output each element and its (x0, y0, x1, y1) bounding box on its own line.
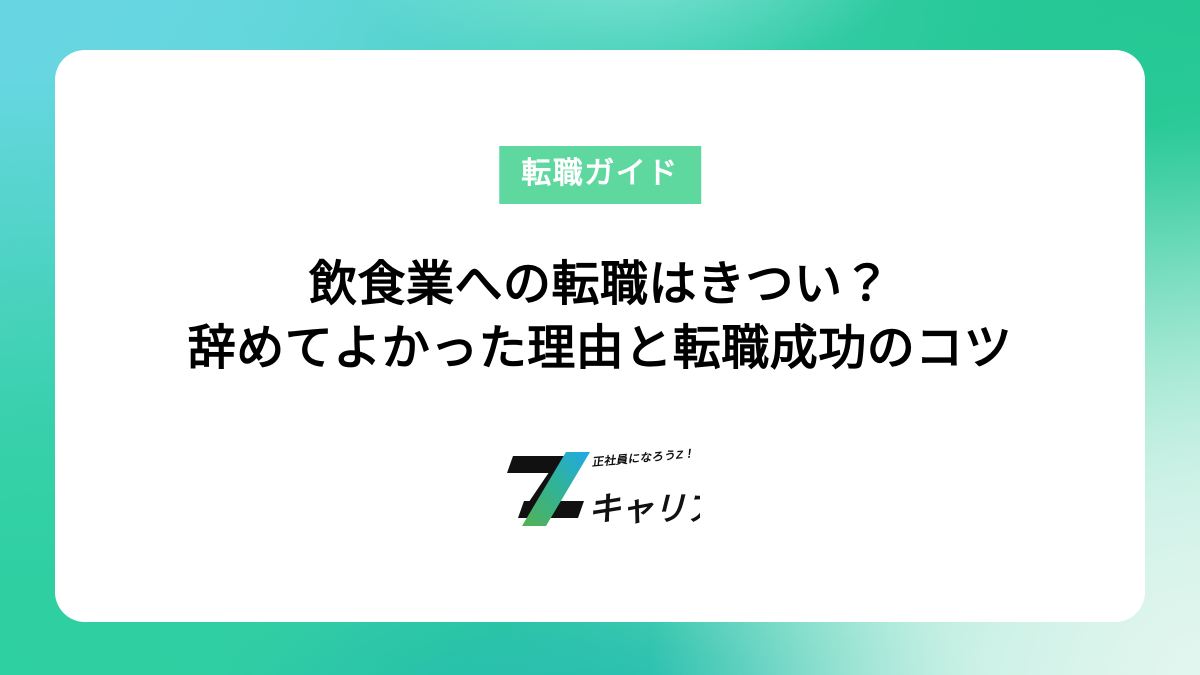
eyecatch-root: 転職ガイド 飲食業への転職はきつい？ 辞めてよかった理由と転職成功のコツ Z 正… (0, 0, 1200, 675)
page-title: 飲食業への転職はきつい？ 辞めてよかった理由と転職成功のコツ (55, 253, 1145, 382)
svg-text:正社員になろうZ！: 正社員になろうZ！ (592, 448, 697, 469)
category-badge: 転職ガイド (499, 146, 701, 204)
logo-tagline: 正社員になろうZ！ (592, 448, 697, 469)
content-card-inner: 転職ガイド 飲食業への転職はきつい？ 辞めてよかった理由と転職成功のコツ Z 正… (55, 50, 1145, 622)
z-career-logo-svg: 正社員になろうZ！ キャリア (500, 448, 700, 534)
page-title-line-1: 飲食業への転職はきつい？ (85, 253, 1115, 317)
page-title-line-2: 辞めてよかった理由と転職成功のコツ (85, 317, 1115, 381)
z-career-logo: Z 正社員になろうZ！ キャリア (500, 448, 700, 534)
svg-text:キャリア: キャリア (586, 491, 700, 527)
content-card: 転職ガイド 飲食業への転職はきつい？ 辞めてよかった理由と転職成功のコツ Z 正… (55, 50, 1145, 622)
logo-wordmark: キャリア (586, 491, 700, 527)
